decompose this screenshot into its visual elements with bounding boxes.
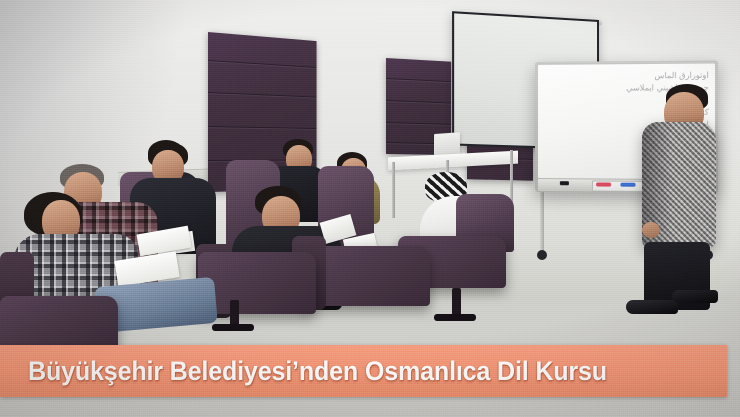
table-leg [392,162,395,218]
whiteboard-leg [540,190,544,254]
whiteboard-magnet [560,181,569,185]
whiteboard-caster [537,250,547,260]
blue-marker [620,183,635,187]
shoe [672,290,718,303]
caption-banner: Büyükşehir Belediyesi’nden Osmanlıca Dil… [0,345,727,397]
seat-foot [212,324,254,331]
red-marker [596,182,611,186]
news-photo: اوتورارق الماس چوجقلر ياشيني ايملاسي هر … [0,0,740,417]
shoe [626,300,678,314]
hand [642,222,660,238]
caption-text: Büyükşehir Belediyesi’nden Osmanlıca Dil… [28,356,607,386]
seat-foot [434,314,476,321]
laptop [434,132,460,156]
